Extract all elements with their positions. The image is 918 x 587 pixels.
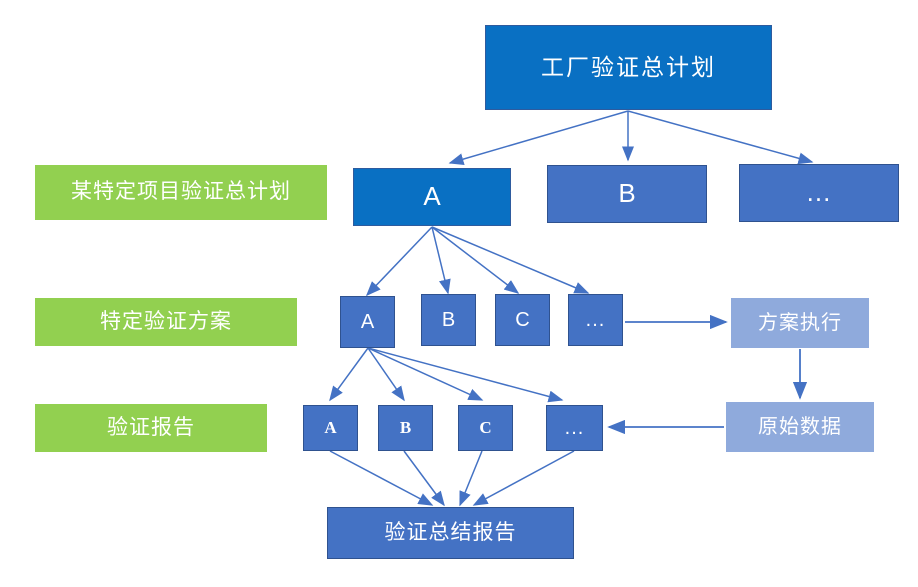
label-report: 验证报告: [35, 404, 267, 452]
node-summary-report-text: 验证总结报告: [385, 521, 517, 545]
arrow-group-report: [330, 348, 562, 400]
node-vmp-a-text: A: [423, 182, 440, 212]
node-report-b-text: B: [400, 418, 411, 438]
node-site-vmp[interactable]: 工厂验证总计划: [485, 25, 772, 110]
arrow-group-summary: [330, 451, 574, 505]
node-protocol-dots-text: ...: [586, 309, 606, 332]
node-vmp-dots-text: ...: [807, 178, 832, 208]
label-protocol-text: 特定验证方案: [100, 310, 232, 334]
node-report-b[interactable]: B: [378, 405, 433, 451]
label-project-vmp: 某特定项目验证总计划: [35, 165, 327, 220]
node-protocol-b[interactable]: B: [421, 294, 476, 346]
node-report-a[interactable]: A: [303, 405, 358, 451]
node-protocol-b-text: B: [442, 309, 455, 332]
node-execution[interactable]: 方案执行: [731, 298, 869, 348]
node-report-dots[interactable]: ...: [546, 405, 603, 451]
node-vmp-b-text: B: [618, 179, 635, 209]
node-raw-data-text: 原始数据: [758, 416, 842, 439]
node-summary-report[interactable]: 验证总结报告: [327, 507, 574, 559]
node-report-dots-text: ...: [565, 417, 585, 440]
node-protocol-dots[interactable]: ...: [568, 294, 623, 346]
arrow-group-protocol: [367, 227, 588, 295]
label-protocol: 特定验证方案: [35, 298, 297, 346]
node-protocol-c-text: C: [515, 309, 529, 332]
node-protocol-a[interactable]: A: [340, 296, 395, 348]
node-report-a-text: A: [324, 418, 336, 438]
node-vmp-b[interactable]: B: [547, 165, 707, 223]
node-vmp-dots[interactable]: ...: [739, 164, 899, 222]
node-raw-data[interactable]: 原始数据: [726, 402, 874, 452]
node-report-c[interactable]: C: [458, 405, 513, 451]
node-vmp-a[interactable]: A: [353, 168, 511, 226]
node-protocol-c[interactable]: C: [495, 294, 550, 346]
node-protocol-a-text: A: [361, 311, 374, 334]
label-report-text: 验证报告: [107, 416, 195, 440]
arrow-group-vmp: [450, 111, 812, 163]
node-report-c-text: C: [479, 418, 491, 438]
node-site-vmp-text: 工厂验证总计划: [541, 54, 716, 80]
diagram-canvas: 某特定项目验证总计划 特定验证方案 验证报告 工厂验证总计划 A B ... A…: [0, 0, 918, 587]
label-project-vmp-text: 某特定项目验证总计划: [71, 180, 291, 204]
node-execution-text: 方案执行: [758, 312, 842, 335]
